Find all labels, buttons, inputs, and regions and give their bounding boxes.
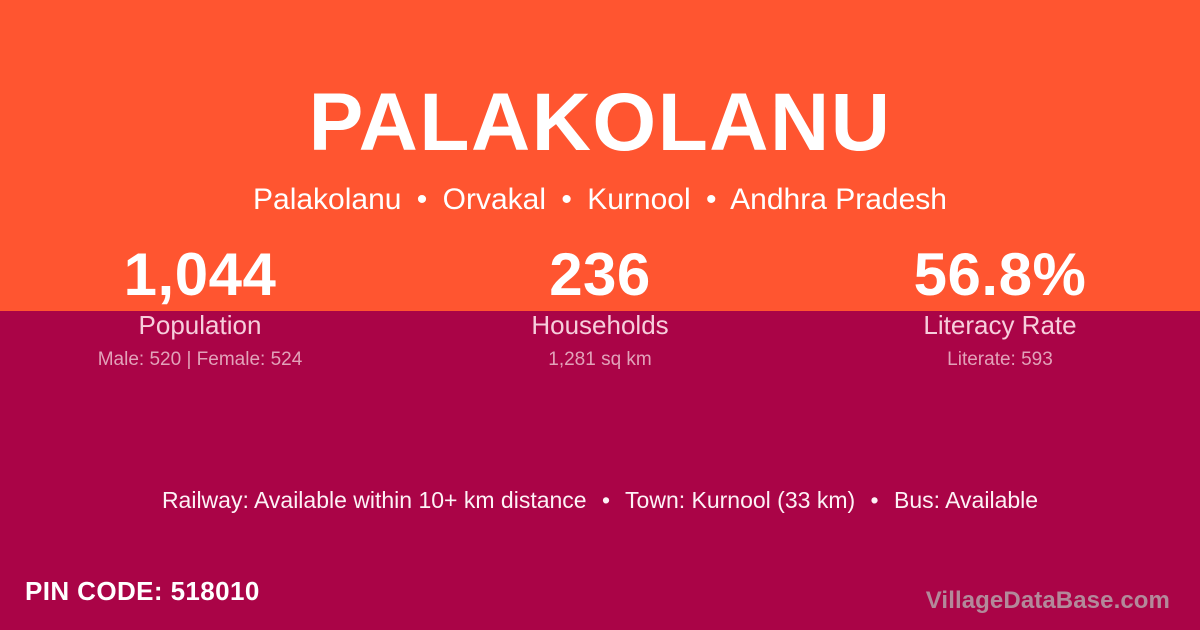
breadcrumb-separator-1: • — [410, 183, 435, 216]
amenity-railway: Railway: Available within 10+ km distanc… — [162, 487, 587, 513]
amenity-separator-2: • — [862, 487, 888, 513]
breadcrumb-village: Palakolanu — [253, 183, 401, 216]
amenity-town: Town: Kurnool (33 km) — [625, 487, 855, 513]
stat-population: 1,044 Population Male: 520 | Female: 524 — [0, 244, 400, 371]
stat-sublabel: 1,281 sq km — [400, 349, 800, 371]
stat-sublabel: Male: 520 | Female: 524 — [0, 349, 400, 371]
stat-label: Households — [400, 310, 800, 340]
stat-value: 56.8% — [800, 244, 1200, 306]
amenity-separator-1: • — [593, 487, 619, 513]
page-title: PALAKOLANU — [0, 82, 1200, 164]
pin-code: PIN CODE: 518010 — [25, 575, 260, 607]
breadcrumb-block: Orvakal — [443, 183, 546, 216]
breadcrumb-district: Kurnool — [587, 183, 690, 216]
stat-value: 1,044 — [0, 244, 400, 306]
amenity-bus: Bus: Available — [894, 487, 1038, 513]
breadcrumb-state: Andhra Pradesh — [730, 183, 947, 216]
breadcrumb-separator-2: • — [554, 183, 579, 216]
breadcrumb: Palakolanu • Orvakal • Kurnool • Andhra … — [0, 182, 1200, 218]
stat-label: Literacy Rate — [800, 310, 1200, 340]
village-info-card: PALAKOLANU Palakolanu • Orvakal • Kurnoo… — [0, 0, 1200, 630]
stat-value: 236 — [400, 244, 800, 306]
breadcrumb-separator-3: • — [699, 183, 724, 216]
stat-label: Population — [0, 310, 400, 340]
stat-households: 236 Households 1,281 sq km — [400, 244, 800, 371]
stats-row: 1,044 Population Male: 520 | Female: 524… — [0, 244, 1200, 371]
stat-sublabel: Literate: 593 — [800, 349, 1200, 371]
stat-literacy-rate: 56.8% Literacy Rate Literate: 593 — [800, 244, 1200, 371]
brand-watermark: VillageDataBase.com — [926, 587, 1170, 615]
amenities-line: Railway: Available within 10+ km distanc… — [0, 486, 1200, 514]
